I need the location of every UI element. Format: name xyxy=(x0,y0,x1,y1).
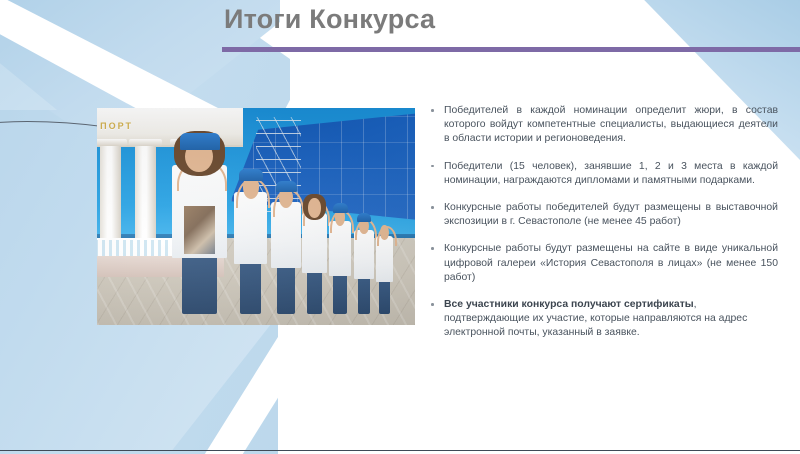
list-item: Конкурсные работы будут размещены на сай… xyxy=(430,242,778,285)
list-item: Победители (15 человек), занявшие 1, 2 и… xyxy=(430,160,778,188)
bullet-dot-icon xyxy=(431,206,434,209)
photo-column xyxy=(135,143,156,247)
bullet-dot-icon xyxy=(431,109,434,112)
photo-participants: ПОРТ xyxy=(97,108,415,325)
list-item-text: Победители (15 человек), занявшие 1, 2 и… xyxy=(444,161,778,186)
photo-content: ПОРТ xyxy=(97,108,415,325)
bullet-dot-icon xyxy=(431,303,434,306)
slide: Итоги Конкурса ПОРТ xyxy=(0,0,800,454)
title-underline-bar xyxy=(222,47,800,52)
bullet-dot-icon xyxy=(431,165,434,168)
list-item-text: Конкурсные работы будут размещены на сай… xyxy=(444,243,778,282)
list-item: Победителей в каждой номинации определит… xyxy=(430,104,778,147)
list-item-lead-text: Все участники конкурса получают сертифик… xyxy=(444,299,694,310)
list-item-text: Победителей в каждой номинации определит… xyxy=(444,105,778,144)
photo-column xyxy=(100,143,121,247)
photo-sign-text: ПОРТ xyxy=(100,121,133,131)
photo-person xyxy=(370,214,399,314)
list-item: Все участники конкурса получают сертифик… xyxy=(430,298,778,341)
bullet-list: Победителей в каждой номинации определит… xyxy=(430,104,778,341)
list-item-text: Конкурсные работы победителей будут разм… xyxy=(444,202,778,227)
page-title: Итоги Конкурса xyxy=(224,4,435,35)
list-item: Конкурсные работы победителей будут разм… xyxy=(430,201,778,229)
background-bottom-rule xyxy=(0,450,800,451)
bullet-dot-icon xyxy=(431,247,434,250)
